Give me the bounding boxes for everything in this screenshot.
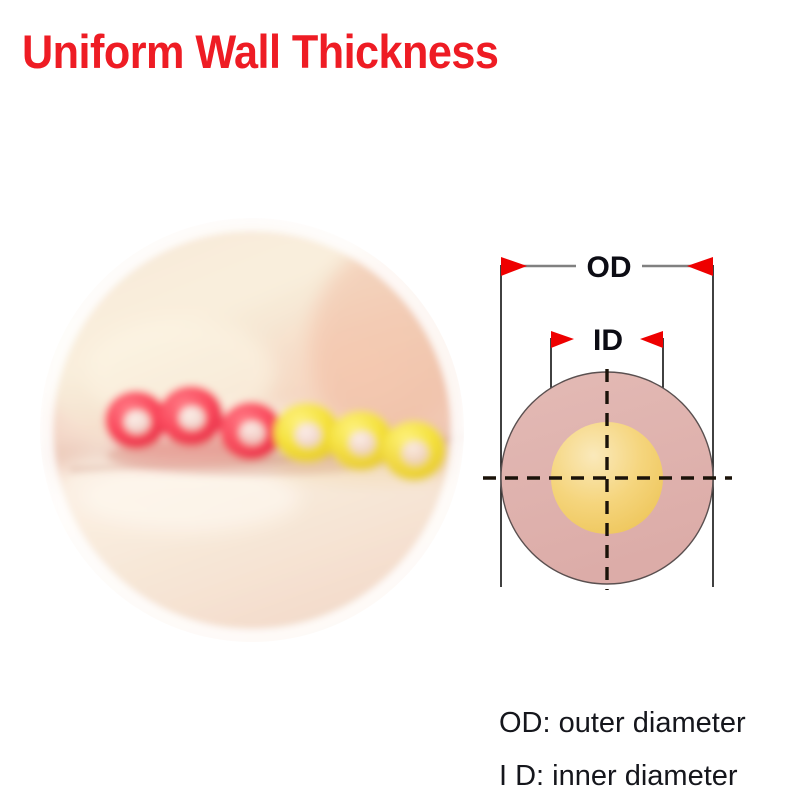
tube-cross-section-diagram: OD ID: [480, 235, 740, 605]
product-photo-svg: [40, 198, 464, 662]
od-label: OD: [587, 251, 632, 284]
yellow-bleed: [275, 450, 464, 482]
pink-bleed: [110, 434, 270, 466]
id-arrow-right-icon: [640, 331, 663, 348]
product-photo: [40, 198, 464, 662]
id-arrow-left-icon: [551, 331, 574, 348]
id-label: ID: [593, 324, 623, 357]
od-arrow-right-icon: [687, 257, 713, 276]
diagram-svg: OD ID: [480, 235, 740, 605]
od-arrow-left-icon: [501, 257, 527, 276]
legend-line-od: OD: outer diameter: [499, 697, 799, 750]
legend: OD: outer diameter I D: inner diameter: [499, 697, 799, 800]
page-root: Uniform Wall Thickness: [0, 0, 800, 800]
legend-line-id: I D: inner diameter: [499, 750, 799, 800]
photo-content: [40, 218, 464, 662]
page-title: Uniform Wall Thickness: [22, 28, 498, 75]
